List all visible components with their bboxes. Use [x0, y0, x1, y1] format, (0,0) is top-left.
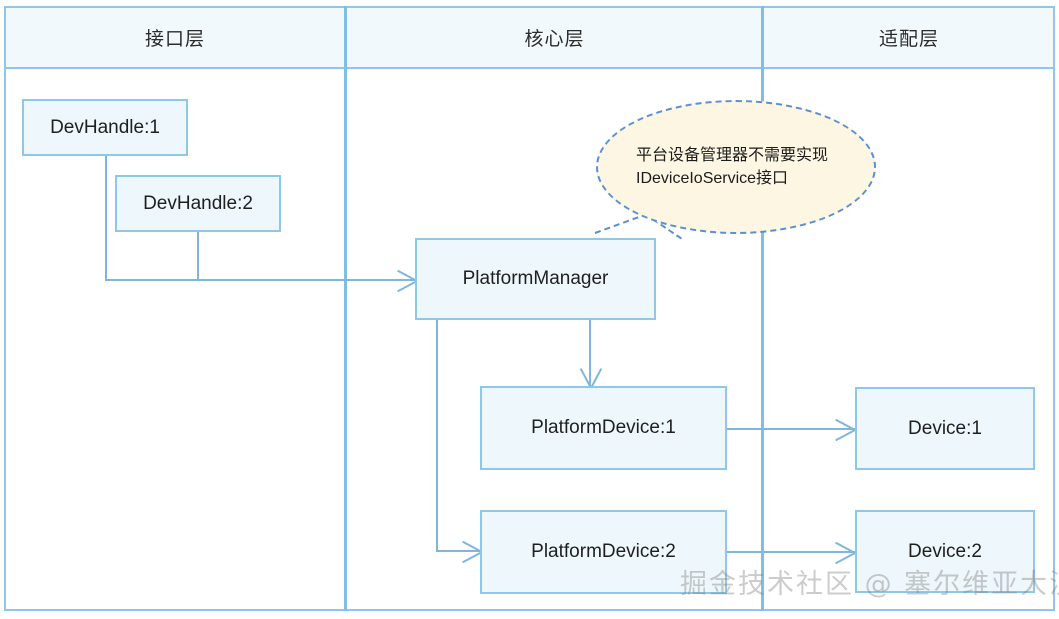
callout-text: 平台设备管理器不需要实现IDeviceIoService接口 — [636, 144, 836, 190]
diagram-canvas: 接口层 核心层 适配层 DevHandle:1 DevHandle:2 Plat… — [0, 0, 1059, 619]
callout-tail — [0, 0, 1059, 619]
callout-platform-manager-note: 平台设备管理器不需要实现IDeviceIoService接口 — [596, 100, 876, 234]
watermark: 掘金技术社区 @ 塞尔维亚大汉 — [680, 562, 1059, 601]
